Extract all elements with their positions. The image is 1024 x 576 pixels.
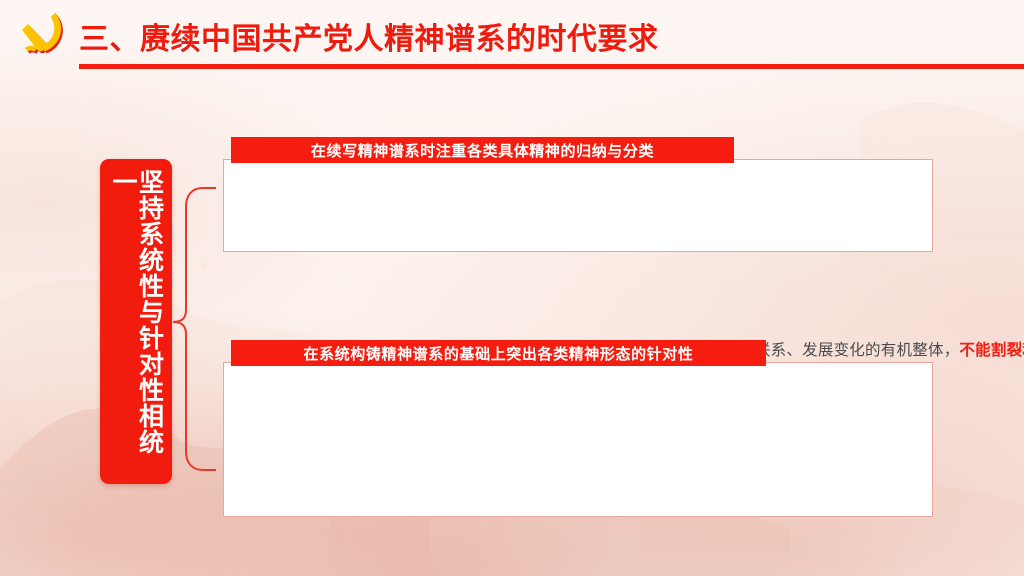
slide-canvas: 三、赓续中国共产党人精神谱系的时代要求 坚持系统性与针对性相统一 中国共产党人精… <box>0 0 1024 576</box>
content-card-1: 中国共产党人精神谱系是多种精神样态相互联系、发展变化的有机整体，不能割裂和碎片化… <box>223 159 933 252</box>
page-title: 三、赓续中国共产党人精神谱系的时代要求 <box>79 14 659 58</box>
content-card-2: 不同精神反映了不同时代要求，讲述了不同的奋斗故事，彰显了对不同人群的示范效用。既… <box>223 362 933 517</box>
party-emblem-icon <box>16 9 72 61</box>
slide-header: 三、赓续中国共产党人精神谱系的时代要求 <box>0 0 1024 72</box>
side-label-pill: 坚持系统性与针对性相统一 <box>100 159 172 484</box>
card-1-heading: 在续写精神谱系时注重各类具体精神的归纳与分类 <box>231 137 734 163</box>
title-underline-rule <box>79 64 1024 69</box>
curly-brace-connector-icon <box>172 155 224 490</box>
card-2-heading: 在系统构铸精神谱系的基础上突出各类精神形态的针对性 <box>231 340 766 366</box>
side-label-text: 坚持系统性与针对性相统一 <box>110 169 163 475</box>
